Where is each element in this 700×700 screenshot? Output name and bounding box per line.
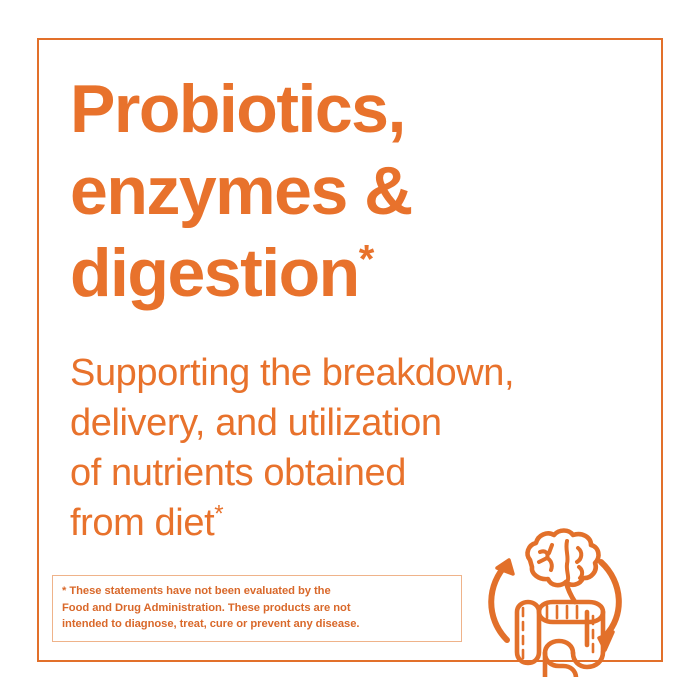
headline-asterisk: * [359,237,375,281]
disclaimer-line-3: intended to diagnose, treat, cure or pre… [62,616,452,633]
headline-line-3: digestion* [70,232,550,314]
promo-graphic: Probiotics, enzymes & digestion* Support… [0,0,700,700]
disclaimer-line-2: Food and Drug Administration. These prod… [62,600,452,617]
intestine-icon [517,602,603,677]
subtitle-line-4-text: from diet [70,502,214,544]
headline-line-1: Probiotics, [70,68,550,150]
subtitle-line-3: of nutrients obtained [70,448,570,498]
headline-line-2: enzymes & [70,150,550,232]
page-title: Probiotics, enzymes & digestion* [70,68,550,314]
brain-icon [528,531,599,603]
headline-line-3-text: digestion [70,235,359,311]
gut-brain-axis-icon [483,512,648,677]
fda-disclaimer-box: * These statements have not been evaluat… [52,575,462,642]
arrow-left-up-icon [491,560,513,640]
disclaimer-line-1: * These statements have not been evaluat… [62,583,452,600]
gut-brain-axis-svg [483,512,648,677]
subtitle-asterisk: * [214,500,223,527]
subtitle-line-1: Supporting the breakdown, [70,348,570,398]
subtitle-line-2: delivery, and utilization [70,398,570,448]
